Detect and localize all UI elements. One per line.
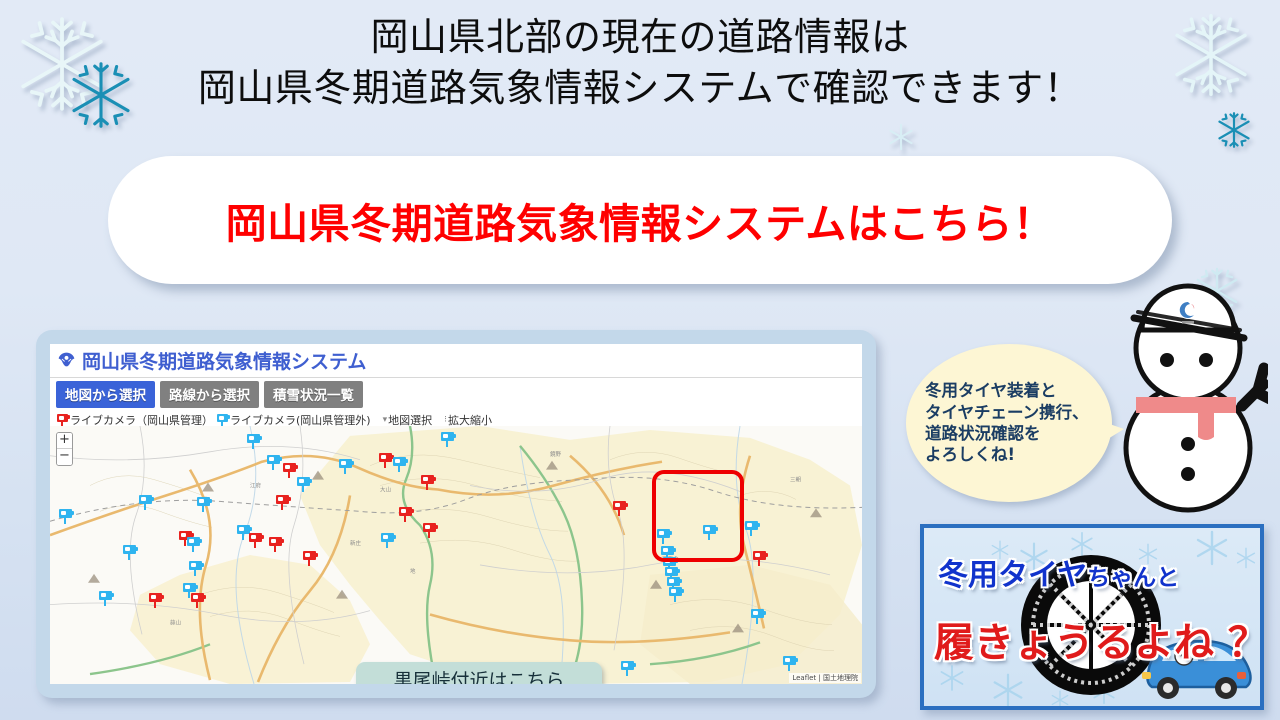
highlight-rectangle — [652, 470, 744, 562]
app-tab-bar: 地図から選択 路線から選択 積雪状況一覧 — [50, 378, 862, 411]
winter-tire-banner[interactable]: 冬用タイヤちゃんと 履きょうるよね ？ — [920, 524, 1264, 710]
svg-text:江府: 江府 — [250, 482, 262, 490]
banner-line-2: 履きょうるよね ？ — [934, 610, 1264, 668]
app-screenshot-card[interactable]: 岡山県冬期道路気象情報システム 地図から選択 路線から選択 積雪状況一覧 ライブ… — [36, 330, 876, 698]
zoom-in-button[interactable]: + — [57, 433, 72, 449]
app-title-text: 岡山県冬期道路気象情報システム — [82, 347, 366, 374]
tab-select-from-route[interactable]: 路線から選択 — [160, 381, 259, 408]
app-window: 岡山県冬期道路気象情報システム 地図から選択 路線から選択 積雪状況一覧 ライブ… — [50, 344, 862, 684]
callout-line-1: 黒尾峠付近はこちら — [366, 670, 592, 684]
snowflake-icon — [1212, 108, 1256, 152]
svg-text:鏡野: 鏡野 — [550, 450, 562, 458]
snowman-bubble-text: 冬用タイヤ装着と タイヤチェーン携行、 道路状況確認を よろしくね! — [925, 380, 1093, 466]
map-canvas[interactable]: 江府大山 新庄地 鏡野西粟倉 三朝蒜山 + − Leaflet | 国土地理院 … — [50, 426, 862, 684]
map-attribution: Leaflet | 国土地理院 — [789, 673, 861, 683]
callout-tail — [600, 682, 619, 684]
tab-select-from-map[interactable]: 地図から選択 — [56, 381, 155, 408]
bubble-line-1: 冬用タイヤ装着と — [925, 380, 1093, 401]
page-title: 岡山県北部の現在の道路情報は 岡山県冬期道路気象情報システムで確認できます！ — [0, 12, 1280, 114]
banner-text-winter-tire: 冬用タイヤ — [938, 558, 1087, 593]
scarf — [1136, 397, 1236, 413]
snowflake-icon — [884, 120, 918, 154]
svg-text:大山: 大山 — [380, 486, 391, 494]
headline-line-1: 岡山県北部の現在の道路情報は — [0, 12, 1280, 63]
banner-text-properly: ちゃんと — [1087, 565, 1179, 591]
bubble-line-3: 道路状況確認を — [925, 423, 1093, 444]
okayama-prefecture-emblem-icon — [56, 350, 77, 371]
chevron-down-icon: ▾ — [383, 415, 388, 425]
banner-text-question: 履きょうるよね ？ — [934, 620, 1264, 666]
headline-line-2: 岡山県冬期道路気象情報システムで確認できます！ — [0, 63, 1280, 114]
banner-line-1: 冬用タイヤちゃんと — [938, 550, 1179, 594]
app-title-bar: 岡山県冬期道路気象情報システム — [50, 344, 862, 378]
snowman-speech-bubble: 冬用タイヤ装着と タイヤチェーン携行、 道路状況確認を よろしくね! — [906, 344, 1112, 502]
bubble-line-4: よろしくね! — [925, 444, 1093, 465]
tab-snow-status-list[interactable]: 積雪状況一覧 — [264, 381, 363, 408]
zoom-out-button[interactable]: − — [57, 449, 72, 465]
map-callout-bubble: 黒尾峠付近はこちら のカメラのアイコンを クリック！ — [356, 662, 602, 684]
cta-link-button[interactable]: 岡山県冬期道路気象情報システムはこちら！ — [108, 156, 1172, 284]
svg-text:三朝: 三朝 — [790, 477, 801, 484]
snowman-character-icon — [1108, 272, 1268, 521]
svg-text:蒜山: 蒜山 — [170, 618, 181, 626]
map-zoom-controls[interactable]: + − — [56, 432, 73, 466]
zoom-icon: ⁝ — [444, 415, 447, 425]
svg-text:地: 地 — [410, 567, 416, 575]
svg-text:新庄: 新庄 — [350, 539, 362, 547]
bubble-line-2: タイヤチェーン携行、 — [925, 402, 1093, 423]
cta-label: 岡山県冬期道路気象情報システムはこちら！ — [226, 190, 1055, 250]
